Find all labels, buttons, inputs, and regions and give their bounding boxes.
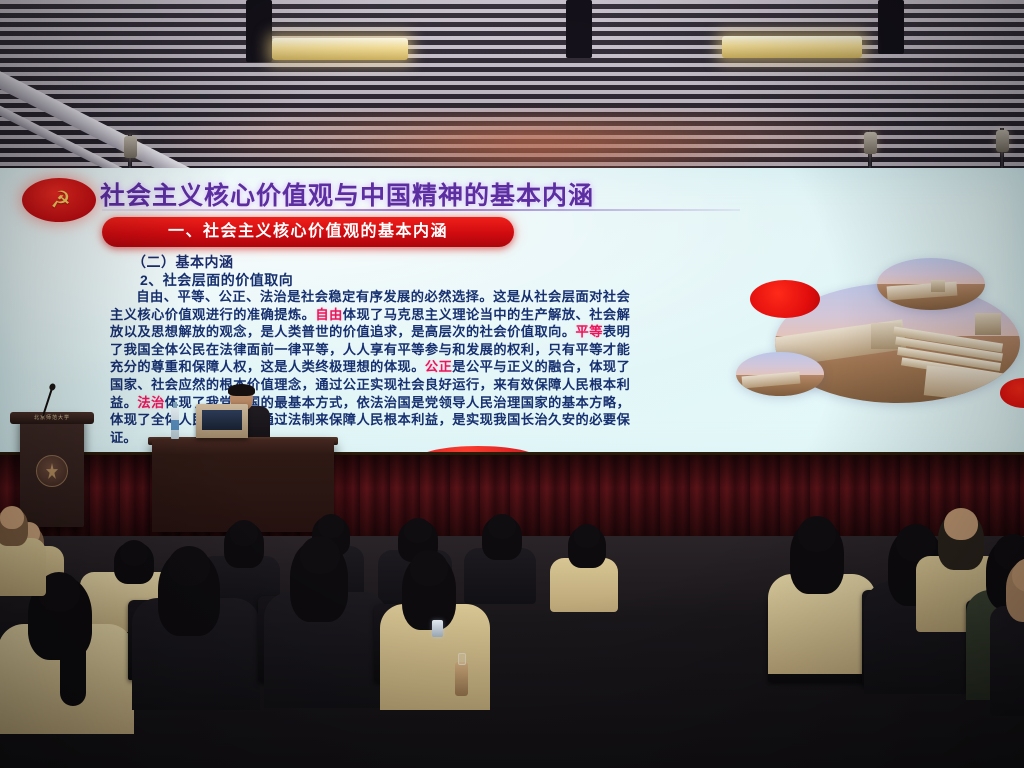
presenter-hair [228, 384, 255, 396]
great-wall-small-photo-top [877, 258, 985, 310]
slide-keyword: 自由 [315, 307, 342, 322]
slide-keyword: 法治 [137, 395, 164, 410]
smartphone[interactable] [432, 620, 443, 637]
thermos-flask [455, 662, 468, 696]
laptop [196, 404, 248, 438]
section-banner: 一、社会主义核心价值观的基本内涵 [102, 217, 514, 247]
red-dot-decoration [750, 280, 820, 318]
lecture-hall-scene: ☭ 社会主义核心价值观与中国精神的基本内涵 一、社会主义核心价值观的基本内涵 （… [0, 0, 1024, 768]
cpc-emblem-icon: ☭ [22, 178, 96, 222]
laptop-screen [202, 410, 242, 430]
slide-subheading-2: 2、社会层面的价值取向 [140, 270, 293, 290]
bottle-label [171, 420, 179, 430]
water-bottle [171, 407, 179, 439]
slide-keyword: 公正 [425, 359, 452, 374]
hammer-sickle-glyph: ☭ [50, 189, 68, 212]
slide-subheading-1: （二）基本内涵 [132, 252, 234, 272]
slide-body-text: 自由、平等、公正、法治是社会稳定有序发展的必然选择。这是从社会层面对社会主义核心… [110, 288, 630, 446]
slide-keyword: 平等 [576, 324, 603, 339]
lectern-label: 北京师范大学 [12, 414, 92, 423]
university-crest-icon [36, 455, 68, 487]
slide-title: 社会主义核心价值观与中国精神的基本内涵 [100, 176, 760, 212]
title-underline [102, 209, 740, 211]
stage-table [152, 440, 334, 532]
great-wall-small-photo-left [736, 352, 824, 396]
